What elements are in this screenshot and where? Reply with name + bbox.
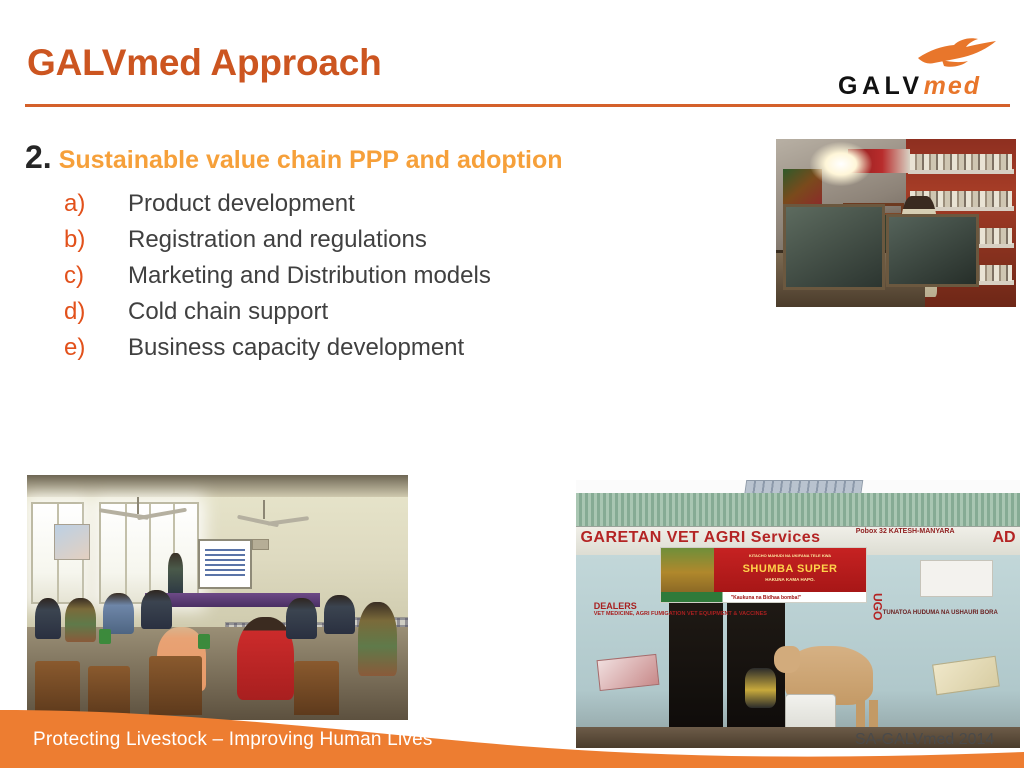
- photo-person: [65, 598, 95, 642]
- shopfront-sign-subtext: Pobox 32 KATESH-MANYARA: [856, 528, 955, 537]
- list-item-label: Product development: [128, 190, 355, 218]
- logo-wordmark: GALVmed: [838, 70, 1013, 102]
- photo-wall-chart: [54, 524, 90, 560]
- photo-projector-screen: [198, 539, 252, 590]
- dealers-title: DEALERS: [594, 601, 637, 611]
- photo-light-glare: [810, 142, 872, 186]
- list-item-marker: e): [64, 334, 128, 362]
- photo-bottle: [198, 634, 209, 649]
- bird-icon: [916, 36, 998, 70]
- list-item-label: Marketing and Distribution models: [128, 262, 491, 290]
- shopfront-sign-right: AD: [992, 529, 1015, 547]
- banner-title-text: SHUMBA SUPER: [723, 563, 858, 575]
- list-item-marker: d): [64, 298, 128, 326]
- list-item: b) Registration and regulations: [64, 226, 704, 262]
- footer-tagline: Protecting Livestock – Improving Human L…: [33, 729, 433, 751]
- photo-person: [168, 553, 183, 592]
- logo-text-secondary: med: [924, 72, 981, 100]
- list-item-label: Business capacity development: [128, 334, 464, 362]
- shopfront-vertical-text: UGO: [871, 593, 882, 620]
- section-number: 2.: [25, 139, 52, 175]
- shopfront-service-text: TUNATOA HUDUMA NA USHAURI BORA: [883, 609, 998, 617]
- title-divider: [25, 104, 1010, 107]
- list-item: e) Business capacity development: [64, 334, 704, 370]
- section-heading: 2.Sustainable value chain PPP and adopti…: [25, 139, 563, 176]
- photo-notice-board: [920, 560, 993, 597]
- photo-ceiling: [27, 475, 408, 497]
- photo-person: [286, 598, 316, 640]
- photo-wall-socket: [252, 539, 269, 551]
- photo-counter-glass: [783, 204, 885, 291]
- list-item: a) Product development: [64, 190, 704, 226]
- photo-bottle: [99, 629, 110, 644]
- photo-person: [141, 590, 171, 629]
- photo-painted-medicine-box: [597, 654, 660, 692]
- shumba-super-banner: KITACHO MAHUDI NA UKIFANA TELE KWA SHUMB…: [660, 547, 866, 603]
- photo-person: [324, 595, 354, 634]
- list-item: c) Marketing and Distribution models: [64, 262, 704, 298]
- veterinary-pharmacy-interior-photo: [776, 139, 1016, 307]
- list-item-marker: a): [64, 190, 128, 218]
- photo-counter-glass: [886, 214, 978, 287]
- photo-person: [35, 598, 62, 640]
- list-item-label: Registration and regulations: [128, 226, 427, 254]
- banner-sub-text: HAKUNA KAMA HAPO.: [723, 577, 858, 582]
- training-workshop-photo: [27, 475, 408, 720]
- list-item-marker: b): [64, 226, 128, 254]
- banner-top-text: KITACHO MAHUDI NA UKIFANA TELE KWA: [723, 553, 858, 558]
- photo-ceiling-fan-pole: [137, 497, 139, 514]
- list-item-marker: c): [64, 262, 128, 290]
- footer-band: [0, 688, 1024, 768]
- photo-person: [358, 602, 396, 676]
- galvmed-logo: GALVmed: [838, 36, 1013, 104]
- logo-text-primary: GALV: [838, 72, 924, 100]
- shopfront-dealers-text: DEALERS VET MEDICINE, AGRI FUMIGATION VE…: [594, 601, 767, 618]
- photo-painted-cow-head: [774, 646, 801, 673]
- credit-line: SA-GALVmed 2014: [855, 731, 994, 749]
- list-item: d) Cold chain support: [64, 298, 704, 334]
- dealers-body: VET MEDICINE, AGRI FUMIGATION VET EQUIPM…: [594, 611, 767, 618]
- sub-point-list: a) Product development b) Registration a…: [64, 190, 704, 370]
- page-title: GALVmed Approach: [27, 42, 382, 84]
- photo-roof: [576, 493, 1020, 527]
- list-item-label: Cold chain support: [128, 298, 328, 326]
- section-heading-text: Sustainable value chain PPP and adoption: [59, 146, 563, 174]
- photo-person: [103, 593, 133, 635]
- shopfront-sign-text: GARETAN VET AGRI Services: [580, 529, 820, 547]
- photo-ceiling-fan-pole: [263, 500, 265, 520]
